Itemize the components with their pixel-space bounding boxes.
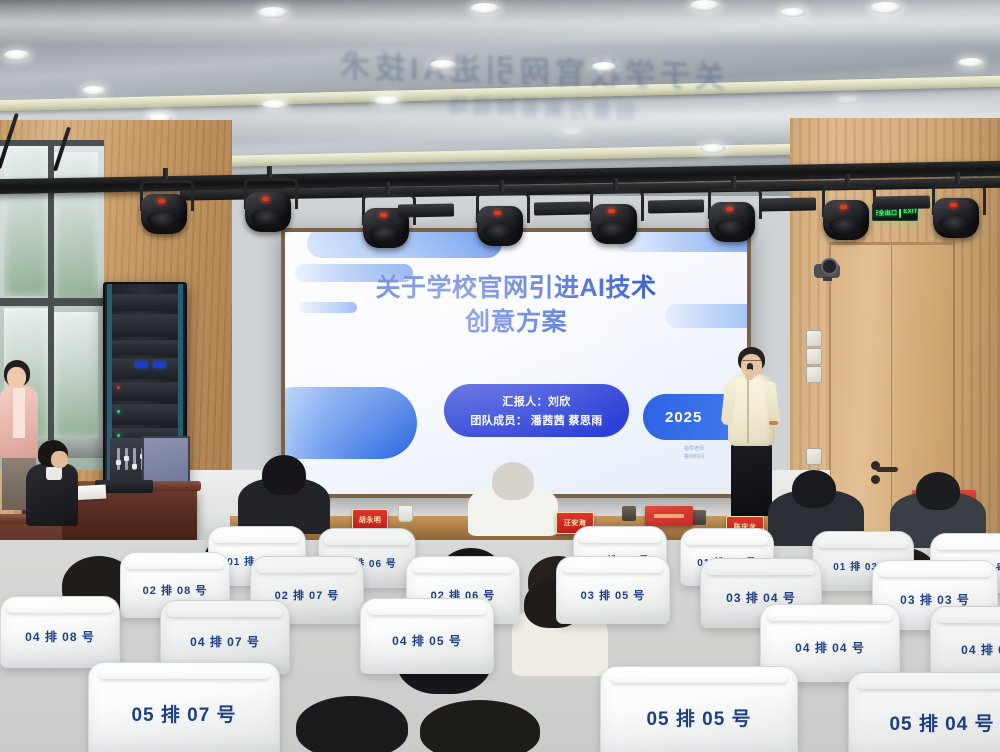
seat-number-label: 04 排 07 号 xyxy=(190,633,260,650)
ceiling-downlight xyxy=(700,144,726,153)
slide-footnote-line1: 指导老师 xyxy=(659,446,729,454)
exit-sign-en: EXIT xyxy=(903,209,918,215)
ceiling-downlight xyxy=(958,58,984,67)
ceiling-downlight xyxy=(836,96,860,104)
ceiling-downlight xyxy=(870,2,902,14)
audience-member-head xyxy=(916,472,960,510)
stage-light xyxy=(474,192,526,248)
tea-mug xyxy=(692,510,706,525)
status-led xyxy=(117,386,120,389)
slide-footnote: 指导老师 答辩时间 xyxy=(659,446,729,461)
light-switch[interactable] xyxy=(806,448,822,465)
stage-light xyxy=(930,184,982,240)
stage-light xyxy=(706,188,758,244)
slide-title-line1: 关于学校官网引进AI技术 xyxy=(285,272,747,306)
ceiling-downlight xyxy=(374,96,400,105)
stage-light xyxy=(138,180,190,236)
seated-av-operator xyxy=(24,440,88,532)
seat-number-label: 05 排 04 号 xyxy=(889,709,994,736)
paper-cup xyxy=(398,504,413,522)
audience-member-head xyxy=(492,462,534,500)
projection-screen-frame: 关于学校官网引进AI技术 创意方案 汇报人：刘欣 团队成员： 潘茜茜 蔡思雨 2… xyxy=(281,228,751,498)
slide-team-label: 团队成员： 潘茜茜 蔡思雨 xyxy=(470,412,602,428)
slide-footnote-line2: 答辩时间 xyxy=(659,454,729,462)
light-switch[interactable] xyxy=(806,366,822,383)
placard-name: 胡永明 xyxy=(359,515,382,525)
ceiling-downlight xyxy=(430,60,456,69)
auditorium-seat[interactable]: 04 排 08 号 xyxy=(0,596,120,668)
ceiling-downlight xyxy=(690,0,720,11)
ceiling-speaker xyxy=(398,204,454,218)
ceiling-downlight xyxy=(4,50,30,60)
audience-member-head xyxy=(420,700,540,752)
ceiling-downlight xyxy=(470,3,500,14)
stage-light xyxy=(588,190,640,246)
slide-presenter-pill: 汇报人：刘欣 团队成员： 潘茜茜 蔡思雨 xyxy=(444,384,629,437)
audience-member-head xyxy=(792,470,836,508)
seat-number-label: 04 排 05 号 xyxy=(392,632,462,649)
tea-mug xyxy=(622,506,636,521)
status-led xyxy=(117,434,120,437)
rack-unit xyxy=(112,314,178,337)
stage-light xyxy=(242,178,294,234)
door-lock-icon xyxy=(871,475,880,484)
seat-number-label: 05 排 07 号 xyxy=(131,700,236,727)
ceiling-downlight xyxy=(560,128,584,136)
light-switch[interactable] xyxy=(806,330,822,347)
stage-light xyxy=(820,186,872,242)
seat-number-label: 04 排 03 号 xyxy=(961,641,1000,658)
ceiling-speaker xyxy=(874,196,930,210)
door-handle-icon[interactable] xyxy=(876,467,898,472)
status-led xyxy=(117,410,120,413)
light-switch[interactable] xyxy=(806,348,822,365)
ptz-camera-icon xyxy=(814,258,840,280)
rack-display xyxy=(135,362,148,368)
auditorium-seat[interactable]: 05 排 05 号 xyxy=(600,666,798,752)
slide-title-line2: 创意方案 xyxy=(285,306,747,340)
audience-member-head xyxy=(262,455,306,495)
stage-light xyxy=(360,194,412,250)
seat-number-label: 04 排 08 号 xyxy=(25,628,95,645)
slide-presenter-label: 汇报人：刘欣 xyxy=(502,393,570,409)
audience-member-head xyxy=(296,696,408,752)
rack-display xyxy=(153,362,166,368)
seat-number-label: 03 排 05 号 xyxy=(581,587,646,603)
slide-title: 关于学校官网引进AI技术 创意方案 xyxy=(285,272,747,340)
ceiling-downlight xyxy=(258,7,288,18)
red-gift-box xyxy=(645,506,693,526)
seat-number-label: 02 排 08 号 xyxy=(143,582,208,598)
auditorium-seat[interactable]: 05 排 04 号 xyxy=(848,672,1000,752)
projection-screen: 关于学校官网引进AI技术 创意方案 汇报人：刘欣 团队成员： 潘茜茜 蔡思雨 2… xyxy=(285,232,747,494)
auditorium-seat[interactable]: 04 排 05 号 xyxy=(360,598,494,674)
ceiling-speaker xyxy=(648,200,704,214)
rack-unit xyxy=(112,340,178,355)
ceiling-downlight xyxy=(780,8,806,17)
slide-decoration-pill xyxy=(285,387,417,459)
door-seam xyxy=(891,245,892,535)
slide-year: 2025 xyxy=(665,409,702,426)
seat-number-label: 02 排 07 号 xyxy=(275,587,340,603)
ceiling-downlight xyxy=(592,62,616,71)
auditorium-seat[interactable]: 05 排 07 号 xyxy=(88,662,280,752)
presenter-speaker xyxy=(722,347,780,519)
seat-number-label: 05 排 05 号 xyxy=(646,704,751,731)
rack-unit xyxy=(112,382,178,401)
auditorium-seat[interactable]: 03 排 05 号 xyxy=(556,556,670,624)
seat-number-label: 04 排 04 号 xyxy=(795,639,865,656)
ceiling-speaker xyxy=(760,198,816,212)
conference-hall-photo: 关于学校官网引进AI技术 创意方案答辩现场 xyxy=(0,0,1000,752)
ceiling-downlight xyxy=(82,86,106,95)
ceiling-downlight xyxy=(262,100,288,109)
ceiling-speaker xyxy=(534,202,590,216)
rack-unit xyxy=(112,404,178,425)
rack-unit xyxy=(112,294,178,311)
